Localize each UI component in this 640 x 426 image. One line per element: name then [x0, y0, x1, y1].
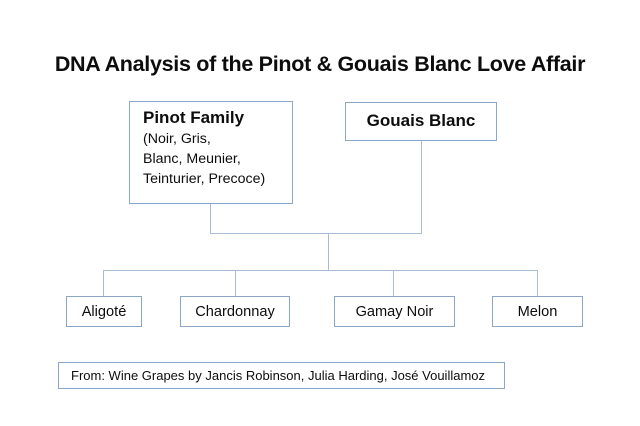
node-gamay-noir-label: Gamay Noir — [356, 304, 434, 320]
node-pinot-family-detail-line-1: (Noir, Gris, — [143, 130, 292, 150]
connector-drop-gamay-noir — [393, 270, 394, 296]
connector-pinot-drop — [210, 204, 211, 234]
node-pinot-family-detail-line-2: Blanc, Meunier, — [143, 150, 292, 170]
connector-offspring-distribution-bar — [103, 270, 538, 271]
node-chardonnay-label: Chardonnay — [195, 304, 275, 320]
slide-canvas: DNA Analysis of the Pinot & Gouais Blanc… — [0, 0, 640, 426]
node-aligote-label: Aligoté — [82, 304, 127, 320]
connector-drop-melon — [537, 270, 538, 296]
node-pinot-family[interactable]: Pinot Family (Noir, Gris, Blanc, Meunier… — [129, 101, 293, 204]
connector-drop-aligote — [103, 270, 104, 296]
connector-drop-chardonnay — [235, 270, 236, 296]
node-gouais-blanc-title: Gouais Blanc — [367, 111, 476, 131]
node-aligote[interactable]: Aligoté — [66, 296, 142, 327]
source-citation-box: From: Wine Grapes by Jancis Robinson, Ju… — [58, 362, 505, 389]
node-melon-label: Melon — [518, 304, 558, 320]
node-melon[interactable]: Melon — [492, 296, 583, 327]
connector-gouais-drop — [421, 141, 422, 234]
node-chardonnay[interactable]: Chardonnay — [180, 296, 290, 327]
connector-parent-merge-bar — [210, 233, 422, 234]
page-title: DNA Analysis of the Pinot & Gouais Blanc… — [0, 52, 640, 77]
connector-center-stem — [328, 233, 329, 270]
node-gamay-noir[interactable]: Gamay Noir — [334, 296, 455, 327]
source-citation-text: From: Wine Grapes by Jancis Robinson, Ju… — [71, 368, 485, 383]
node-gouais-blanc[interactable]: Gouais Blanc — [345, 102, 497, 141]
node-pinot-family-detail-line-3: Teinturier, Precoce) — [143, 170, 292, 190]
node-pinot-family-title: Pinot Family — [143, 108, 292, 128]
